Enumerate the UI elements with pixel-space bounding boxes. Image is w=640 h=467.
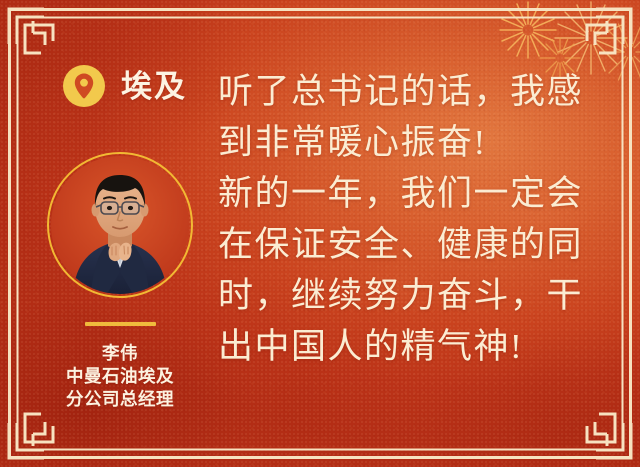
caption-divider (85, 322, 156, 326)
avatar (47, 152, 193, 298)
location-badge: 埃及 (62, 64, 187, 108)
quote-line: 新的一年，我们一定会 (218, 168, 608, 219)
quote-line: 出中国人的精气神! (218, 321, 608, 372)
location-name: 埃及 (121, 71, 187, 102)
avatar-ring (47, 152, 193, 298)
map-pin-icon (62, 64, 106, 108)
poster-card: 埃及 (0, 0, 640, 467)
quote-line: 时，继续努力奋斗，干 (218, 270, 608, 321)
person-name: 李伟 (20, 342, 220, 365)
quote-line: 在保证安全、健康的同 (218, 219, 608, 270)
quote-line: 到非常暖心振奋! (218, 117, 608, 168)
person-caption: 李伟 中曼石油埃及 分公司总经理 (20, 342, 220, 411)
quote-text: 听了总书记的话，我感 到非常暖心振奋! 新的一年，我们一定会 在保证安全、健康的… (218, 66, 608, 373)
person-org: 中曼石油埃及 (20, 365, 220, 388)
quote-line: 听了总书记的话，我感 (218, 66, 608, 117)
person-title: 分公司总经理 (20, 388, 220, 411)
